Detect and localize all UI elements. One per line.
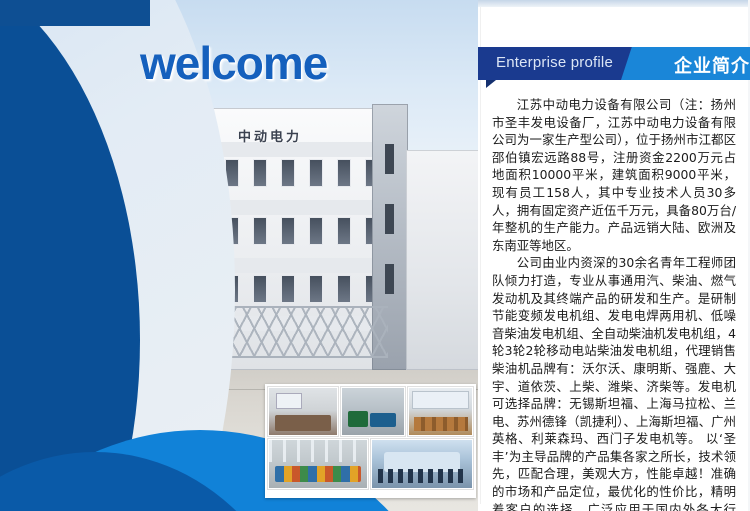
- generator-factory-photo: [341, 387, 405, 436]
- tab-corner-tail: [486, 80, 496, 88]
- facade-window: [310, 218, 322, 244]
- facade-window: [338, 218, 350, 244]
- page-title: welcome: [140, 36, 327, 90]
- facade-window: [282, 218, 294, 244]
- corner-window: [385, 204, 394, 234]
- meeting-room-photo: [268, 387, 338, 436]
- tab-label-english: Enterprise profile: [496, 54, 613, 71]
- facade-window: [310, 160, 322, 186]
- profile-body-text: 江苏中动电力设备有限公司（注：扬州市圣丰发电设备厂，江苏中动电力设备有限公司为一…: [492, 96, 736, 511]
- corner-window: [385, 264, 394, 294]
- section-header-tab: Enterprise profile 企业简介: [478, 47, 750, 80]
- panel-top-rule: [478, 0, 750, 7]
- facade-window: [254, 276, 266, 302]
- far-right-building: [406, 150, 480, 370]
- profile-paragraph-1: 江苏中动电力设备有限公司（注：扬州市圣丰发电设备厂，江苏中动电力设备有限公司为一…: [492, 96, 736, 254]
- tab-label-chinese: 企业简介: [674, 52, 750, 78]
- company-profile-banner: 中动电力 扬州中动电力设备有限公司 Zhongdong Power Equipm…: [0, 0, 750, 511]
- facade-window: [310, 276, 322, 302]
- corner-window: [385, 144, 394, 174]
- conference-room-photo: [371, 439, 473, 489]
- facade-window: [338, 160, 350, 186]
- open-office-photo: [408, 387, 473, 436]
- facade-band: [212, 258, 392, 273]
- photo-row-top: [268, 387, 473, 436]
- workshop-assembly-photo: [268, 439, 368, 489]
- facade-window: [282, 160, 294, 186]
- facade-window: [338, 276, 350, 302]
- top-left-notch: [0, 0, 150, 26]
- enterprise-profile-panel: Enterprise profile 企业简介 江苏中动电力设备有限公司（注：扬…: [478, 0, 750, 511]
- photo-gallery: [265, 384, 476, 498]
- building-roof-sign: 中动电力: [238, 126, 348, 146]
- profile-paragraph-2: 公司由业内资深的30余名青年工程师团队倾力打造，专业从事通用汽、柴油、燃气发动机…: [492, 254, 736, 511]
- photo-row-bottom: [268, 439, 473, 489]
- facade-band: [212, 200, 392, 215]
- hero-image-panel: 中动电力 扬州中动电力设备有限公司 Zhongdong Power Equipm…: [0, 0, 480, 511]
- facade-window: [254, 218, 266, 244]
- facade-window: [254, 160, 266, 186]
- facade-window: [282, 276, 294, 302]
